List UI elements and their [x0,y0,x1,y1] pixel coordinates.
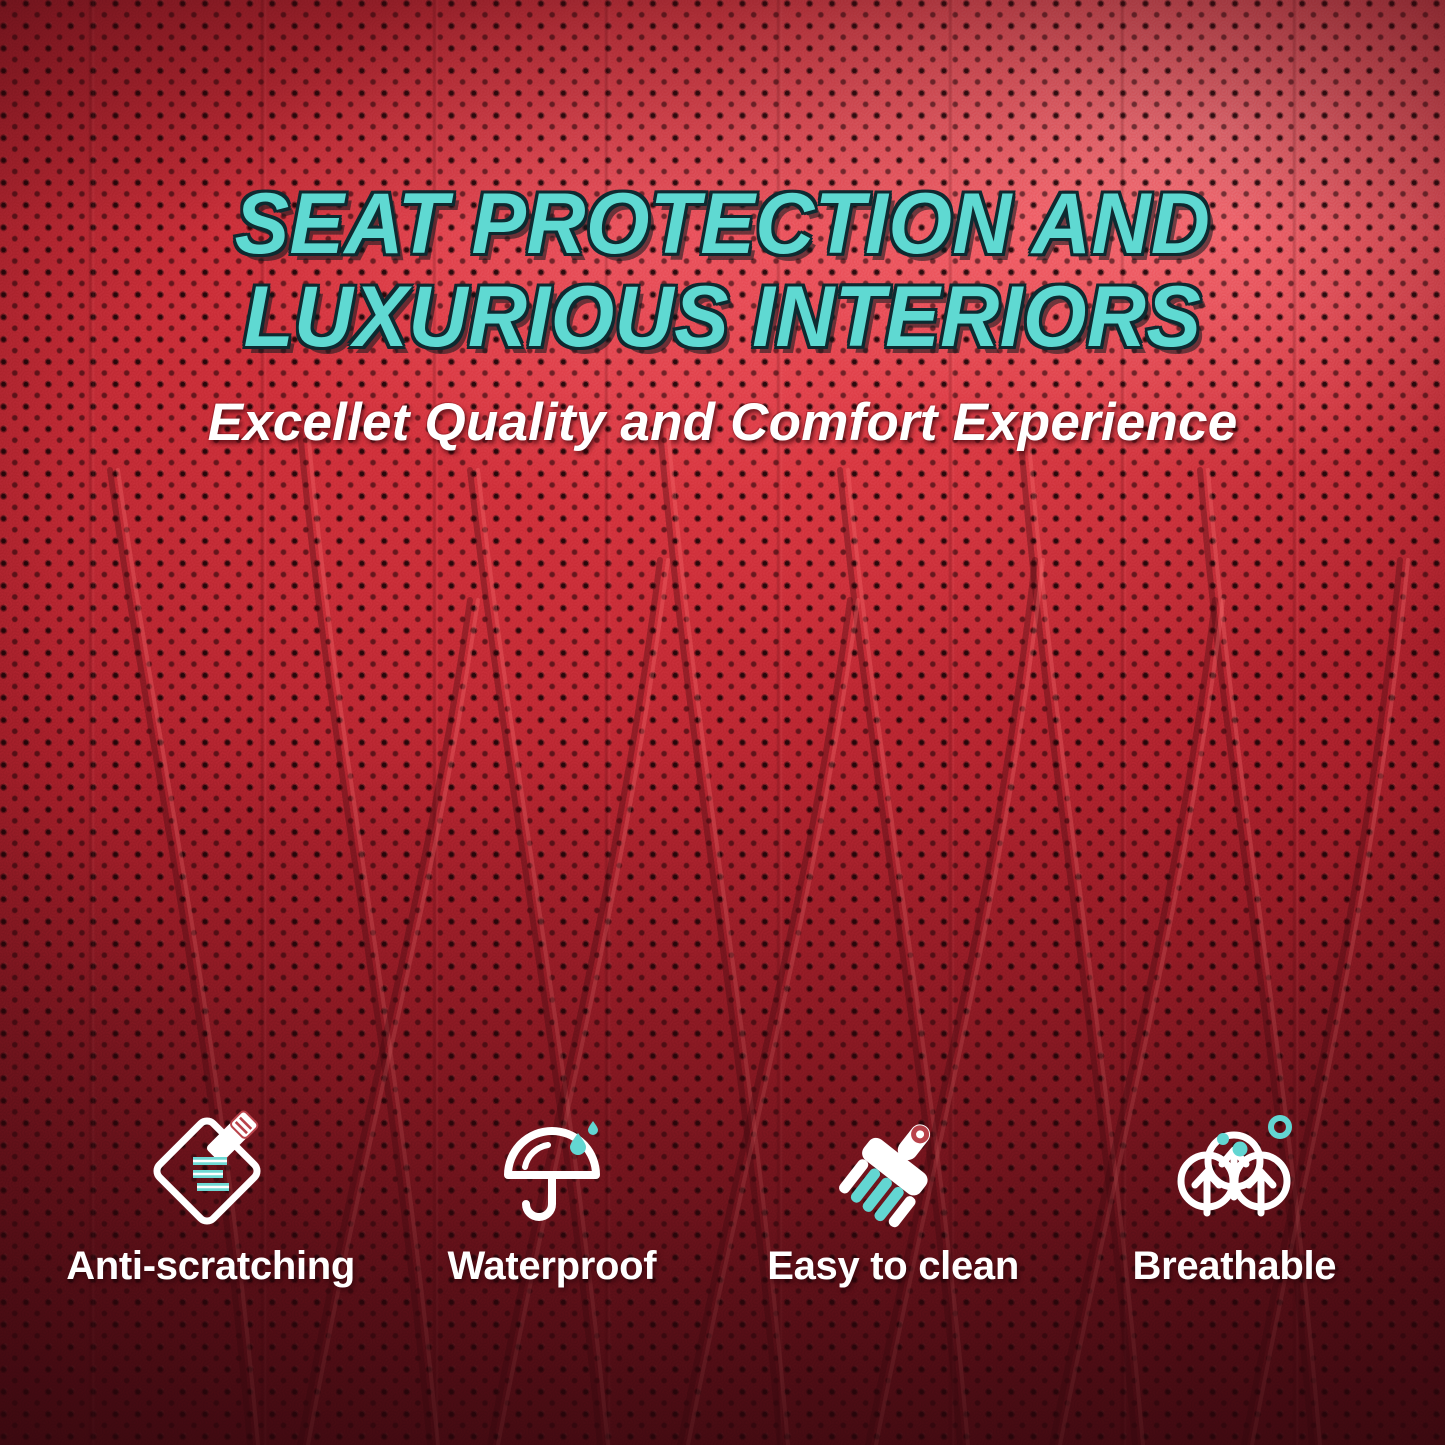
product-feature-banner: SEAT PROTECTION AND LUXURIOUS INTERIORS … [0,0,1445,1445]
feature-label-easy-to-clean: Easy to clean [767,1244,1019,1289]
feature-item-easy-to-clean: Easy to clean [723,1108,1064,1289]
feature-item-breathable: Breathable [1064,1108,1405,1289]
feature-label-breathable: Breathable [1133,1244,1337,1289]
feature-item-waterproof: Waterproof [381,1108,722,1289]
anti-scratch-diamond-icon [151,1108,271,1230]
subheadline: Excellet Quality and Comfort Experience [0,392,1445,453]
feature-list: Anti-scratching Waterproof [40,1108,1405,1289]
headline-line-2: LUXURIOUS INTERIORS [93,275,1352,360]
headline-line-1: SEAT PROTECTION AND [93,182,1352,267]
feature-label-anti-scratching: Anti-scratching [66,1244,355,1289]
cleaning-brush-icon [833,1108,953,1230]
breathable-airflow-icon [1174,1108,1294,1230]
feature-label-waterproof: Waterproof [447,1244,656,1289]
umbrella-waterproof-icon [492,1108,612,1230]
feature-item-anti-scratching: Anti-scratching [40,1108,381,1289]
headline: SEAT PROTECTION AND LUXURIOUS INTERIORS [0,182,1445,360]
